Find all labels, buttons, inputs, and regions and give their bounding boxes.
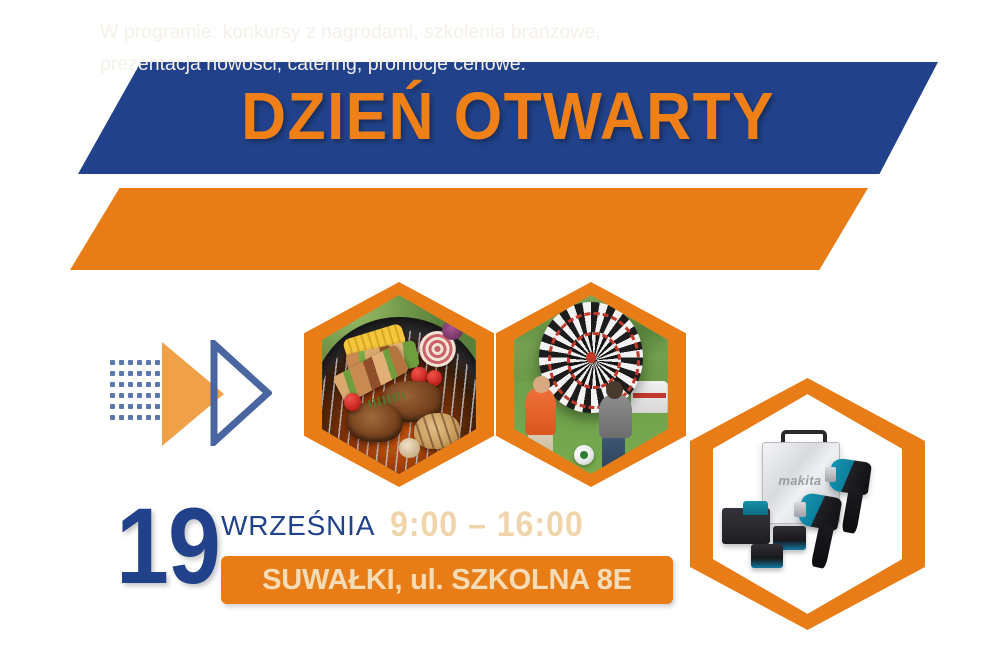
arrow-outline-icon — [210, 340, 272, 446]
hex-photo-tools-inner: makita — [713, 394, 903, 614]
subtitle-text: W programie: konkursy z nagrodami, szkol… — [100, 17, 740, 80]
arrow-decoration — [110, 338, 275, 450]
subtitle-line-2: prezentacja nowości, catering, promocje … — [100, 49, 740, 81]
hex-photo-darts — [496, 282, 686, 487]
hex-photo-grill — [304, 282, 494, 487]
page-title: DZIEŃ OTWARTY — [241, 83, 775, 154]
address-bar: SUWAŁKI, ul. SZKOLNA 8E — [221, 556, 673, 604]
grill-photo — [322, 295, 476, 474]
makita-logo: makita — [771, 473, 828, 488]
date-number: 19 — [116, 492, 220, 600]
subtitle-line-1: W programie: konkursy z nagrodami, szkol… — [100, 17, 740, 49]
month-label: WRZEŚNIA — [221, 510, 375, 542]
darts-photo — [514, 295, 668, 474]
hex-photo-darts-inner — [514, 295, 668, 474]
address-text: SUWAŁKI, ul. SZKOLNA 8E — [262, 564, 632, 597]
hex-photo-grill-inner — [322, 295, 476, 474]
poster-root: DZIEŃ OTWARTY W programie: konkursy z na… — [0, 0, 1004, 670]
tools-photo: makita — [713, 394, 903, 614]
hex-photo-tools: makita — [690, 378, 925, 630]
subtitle-banner — [70, 188, 868, 270]
time-range: 9:00 – 16:00 — [390, 505, 584, 545]
